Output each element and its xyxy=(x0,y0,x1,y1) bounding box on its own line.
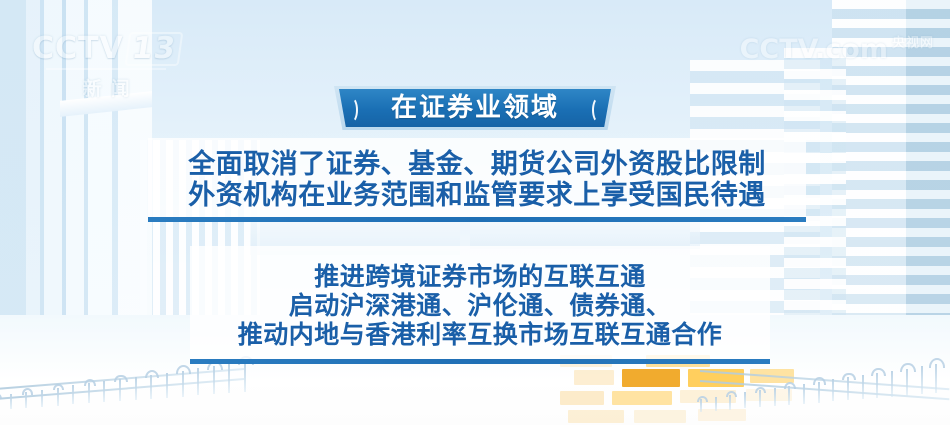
fence-arch xyxy=(929,358,945,367)
fence-post xyxy=(57,388,59,406)
banner-body: 在证券业领域 xyxy=(339,89,611,127)
fence-arch xyxy=(784,382,796,389)
fence-post xyxy=(774,388,776,406)
fence-post xyxy=(150,375,152,399)
fence-post xyxy=(119,379,121,401)
panel-line: 全面取消了证券、基金、期货公司外资股比限制 xyxy=(188,149,766,180)
fence-post xyxy=(41,390,43,407)
brick-block xyxy=(568,410,624,423)
panel-text-block: 全面取消了证券、基金、期货公司外资股比限制 外资机构在业务范围和监管要求上享受国… xyxy=(148,138,806,222)
panel-line: 推进跨境证券市场的互联互通 xyxy=(314,262,646,291)
fence-arch xyxy=(755,387,766,393)
fence-arch xyxy=(145,370,159,378)
broadcast-graphic: CCTV13 新闻 CCTV.com 央视网 在证券业领域 全面取消了证券、基金… xyxy=(0,0,950,425)
fence-arch xyxy=(871,368,886,376)
fence-post xyxy=(818,382,820,403)
fence-arch xyxy=(22,388,33,394)
brick-block xyxy=(634,410,686,423)
fence-post xyxy=(135,377,137,400)
fence-post xyxy=(876,373,878,398)
fence-post xyxy=(832,379,834,401)
fence-arch xyxy=(842,373,856,381)
fence-arch xyxy=(114,375,127,383)
fence-arch xyxy=(84,379,96,386)
fence-post xyxy=(244,362,246,392)
fence-post xyxy=(166,373,168,398)
statement-panel-cross-border-connect: 推进跨境证券市场的互联互通 启动沪深港通、沪伦通、债券通、 推动内地与香港利率互… xyxy=(190,246,770,364)
fence-post xyxy=(862,375,864,399)
fence-post xyxy=(197,368,199,395)
fence-arch xyxy=(697,396,708,402)
fence-post xyxy=(182,371,184,397)
chevron-left-icon xyxy=(345,97,358,123)
fence-post xyxy=(715,397,717,411)
fence-arch xyxy=(900,363,915,372)
fence-post xyxy=(10,394,12,409)
fence-post xyxy=(847,377,849,400)
fence-arch xyxy=(0,393,2,399)
statement-panel-securities-ownership: 全面取消了证券、基金、期货公司外资股比限制 外资机构在业务范围和监管要求上享受国… xyxy=(148,138,806,222)
fence-post xyxy=(213,366,215,394)
fence-arch xyxy=(53,384,65,391)
brick-block xyxy=(622,369,680,387)
fence-post xyxy=(72,385,74,404)
fence-post xyxy=(921,366,923,394)
fence-post xyxy=(891,371,893,397)
fence-post xyxy=(803,384,805,404)
fence-post xyxy=(103,381,105,402)
fence-post xyxy=(744,392,746,408)
fence-post xyxy=(88,383,90,403)
panel-text-block: 推进跨境证券市场的互联互通 启动沪深港通、沪伦通、债券通、 推动内地与香港利率互… xyxy=(190,246,770,364)
fence-arch xyxy=(176,365,191,374)
fence-post xyxy=(935,364,937,393)
panel-underline-rule xyxy=(190,359,770,364)
brick-block xyxy=(612,391,672,405)
fence-arch xyxy=(813,377,826,384)
brick-block xyxy=(560,391,604,405)
panel-line: 外资机构在业务范围和监管要求上享受国民待遇 xyxy=(188,180,766,211)
banner-title: 在证券业领域 xyxy=(391,95,559,121)
fence-arch xyxy=(726,391,737,397)
panel-line: 推动内地与香港利率互换市场互联互通合作 xyxy=(238,320,723,349)
panel-underline-rule xyxy=(148,217,806,222)
fence-post xyxy=(228,364,230,393)
chevron-right-icon xyxy=(592,97,605,123)
brick-block xyxy=(574,370,614,385)
headline-banner: 在证券业领域 xyxy=(334,86,616,130)
panel-line: 启动沪深港通、沪伦通、债券通、 xyxy=(289,291,672,320)
fence-post xyxy=(906,369,908,396)
